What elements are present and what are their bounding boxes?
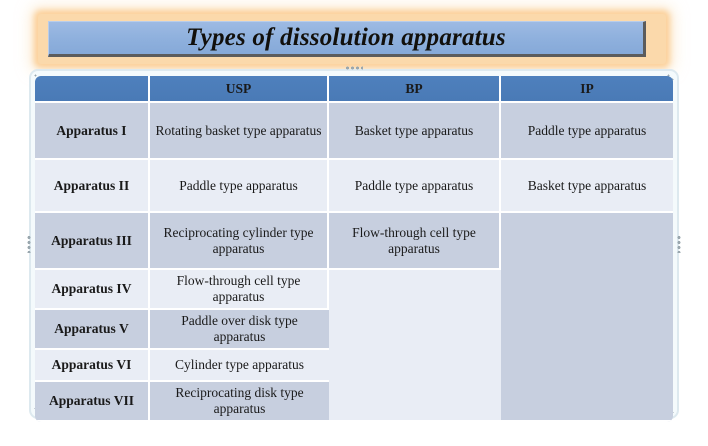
cell-bp-apparatus-i[interactable]: Basket type apparatus [329,103,501,160]
row-label-apparatus-iv[interactable]: Apparatus IV [35,270,150,310]
resize-handle-middle-left[interactable] [27,235,31,253]
cell-usp-apparatus-vii[interactable]: Reciprocating disk type apparatus [150,382,329,422]
title-banner[interactable]: Types of dissolution apparatus [38,14,666,64]
column-header-bp[interactable]: BP [329,76,501,103]
row-label-apparatus-vii[interactable]: Apparatus VII [35,382,150,422]
column-header-blank[interactable] [35,76,150,103]
column-header-ip[interactable]: IP [501,76,673,103]
table-header-row: USP BP IP [35,76,673,103]
cell-bp-apparatus-iii[interactable]: Flow-through cell type apparatus [329,213,501,270]
table-row: Apparatus II Paddle type apparatus Paddl… [35,160,673,213]
row-label-apparatus-v[interactable]: Apparatus V [35,310,150,350]
resize-handle-middle-right[interactable] [677,235,681,253]
row-label-apparatus-ii[interactable]: Apparatus II [35,160,150,213]
row-label-apparatus-vi[interactable]: Apparatus VI [35,350,150,382]
cell-ip-apparatus-ii[interactable]: Basket type apparatus [501,160,673,213]
table-row: Apparatus III Reciprocating cylinder typ… [35,213,673,270]
column-header-usp[interactable]: USP [150,76,329,103]
cell-usp-apparatus-ii[interactable]: Paddle type apparatus [150,160,329,213]
cell-ip-merged-empty[interactable] [501,213,673,422]
row-label-apparatus-iii[interactable]: Apparatus III [35,213,150,270]
cell-usp-apparatus-i[interactable]: Rotating basket type apparatus [150,103,329,160]
page-title: Types of dissolution apparatus [186,24,506,52]
cell-ip-apparatus-i[interactable]: Paddle type apparatus [501,103,673,160]
row-label-apparatus-i[interactable]: Apparatus I [35,103,150,160]
title-box[interactable]: Types of dissolution apparatus [48,21,646,57]
cell-usp-apparatus-iv[interactable]: Flow-through cell type apparatus [150,270,329,310]
cell-usp-apparatus-v[interactable]: Paddle over disk type apparatus [150,310,329,350]
cell-bp-merged-empty[interactable] [329,270,501,422]
table-row: Apparatus I Rotating basket type apparat… [35,103,673,160]
cell-bp-apparatus-ii[interactable]: Paddle type apparatus [329,160,501,213]
dissolution-apparatus-table[interactable]: USP BP IP Apparatus I Rotating basket ty… [35,76,673,422]
cell-usp-apparatus-vi[interactable]: Cylinder type apparatus [150,350,329,382]
resize-handle-top-center[interactable] [345,66,363,70]
cell-usp-apparatus-iii[interactable]: Reciprocating cylinder type apparatus [150,213,329,270]
